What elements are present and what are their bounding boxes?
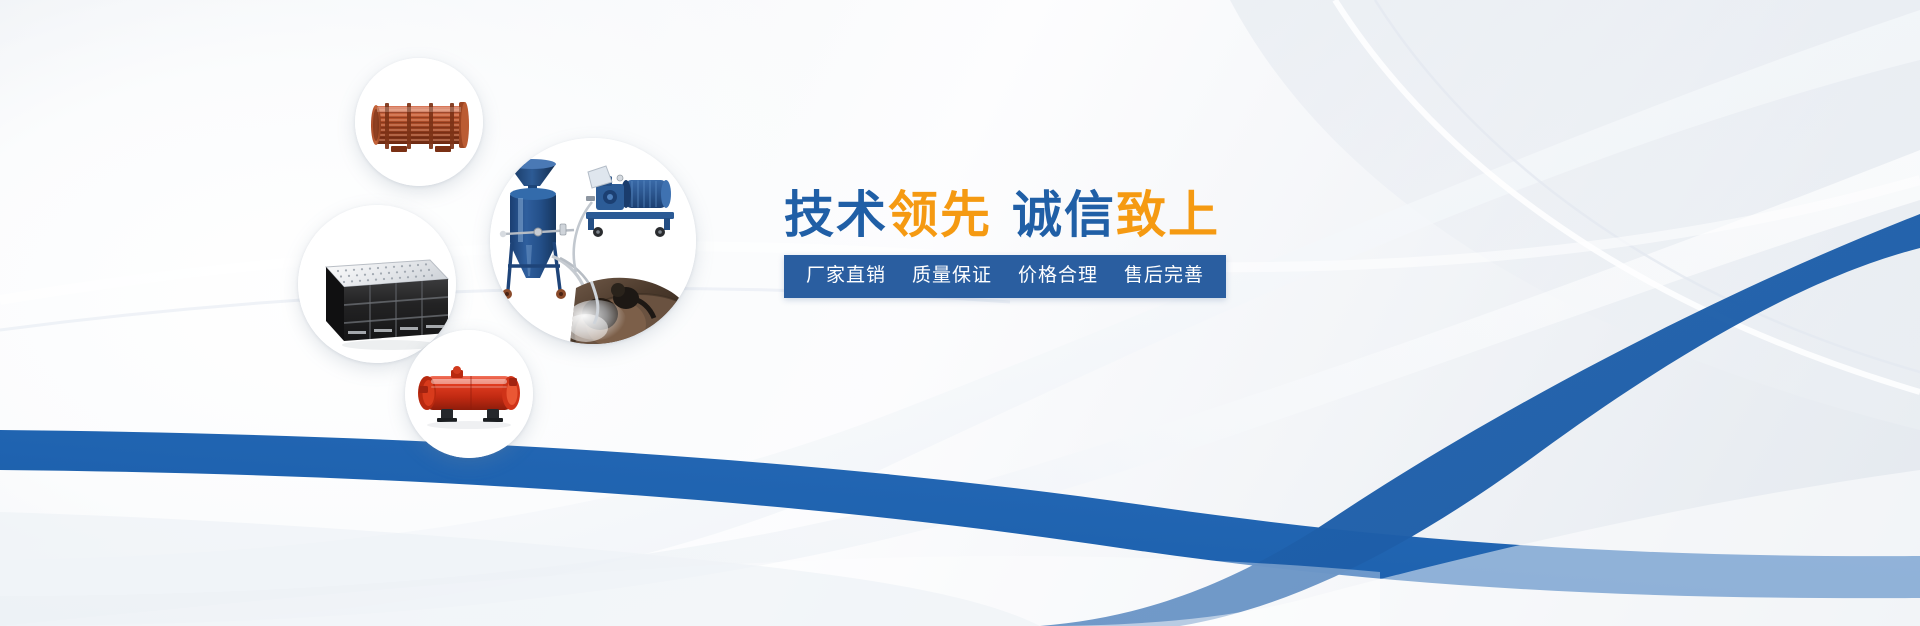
- feature-item-factory-direct: 厂家直销: [806, 264, 886, 288]
- feature-item-quality-guarantee: 质量保证: [912, 264, 992, 288]
- background-decoration: [0, 0, 1920, 626]
- copper-tube-bundle-photo: [355, 58, 483, 186]
- red-horizontal-tank-photo: [405, 330, 533, 458]
- product-bubble-copper-tube-bundle[interactable]: [355, 58, 483, 186]
- sandblasting-equipment-photo: [490, 138, 696, 344]
- product-bubble-red-horizontal-tank[interactable]: [405, 330, 533, 458]
- headline-segment-orange-2: 致上: [1116, 187, 1220, 243]
- product-bubble-sandblasting-equipment[interactable]: [490, 138, 696, 344]
- promo-banner: 技术领先诚信致上 厂家直销 质量保证 价格合理 售后完善: [0, 0, 1920, 626]
- feature-item-after-sales: 售后完善: [1124, 264, 1204, 288]
- headline-segment-blue-2: 诚信: [1012, 187, 1116, 243]
- headline-segment-blue-1: 技术: [784, 187, 888, 243]
- feature-bar: 厂家直销 质量保证 价格合理 售后完善: [784, 255, 1226, 298]
- headline: 技术领先诚信致上: [784, 186, 1220, 244]
- headline-segment-orange-1: 领先: [888, 187, 992, 243]
- feature-item-reasonable-price: 价格合理: [1018, 264, 1098, 288]
